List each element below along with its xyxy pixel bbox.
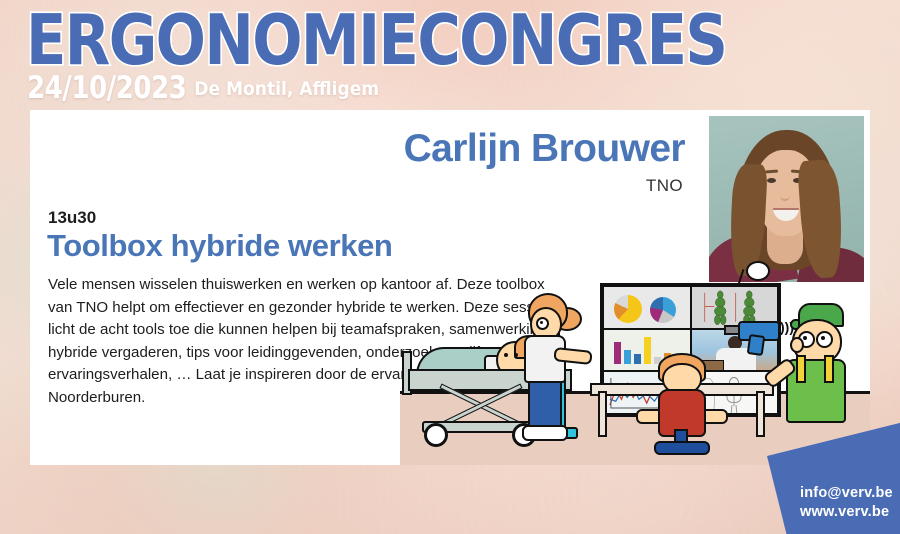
nurse-shoes — [522, 425, 568, 441]
poster-header: ERGONOMIECONGRES 24/10/2023De Montil, Af… — [0, 0, 900, 112]
technician-eye-right — [816, 331, 833, 348]
session-time: 13u30 — [48, 208, 96, 228]
event-venue: De Montil, Affligem — [194, 78, 379, 100]
congress-title: ERGONOMIECONGRES — [26, 6, 726, 75]
lamp-head-icon — [746, 261, 770, 281]
conference-poster: ERGONOMIECONGRES 24/10/2023De Montil, Af… — [0, 0, 900, 534]
nurse-eye — [536, 317, 549, 330]
worker-chair-base — [654, 441, 710, 455]
bar-1 — [614, 342, 621, 364]
technician-figure: ))) — [776, 303, 862, 453]
bar-2 — [624, 350, 631, 364]
event-date: 24/10/2023 — [27, 69, 186, 106]
pie-chart-2 — [650, 297, 676, 323]
speaker-photo — [709, 116, 864, 282]
nurse-figure — [508, 293, 580, 445]
overall-strap-right — [824, 355, 834, 383]
bed-scissor-lift — [436, 387, 516, 421]
speaker-name: Carlijn Brouwer — [404, 127, 685, 171]
speaker-organization: TNO — [646, 176, 683, 196]
photo-eye-left — [767, 178, 776, 183]
content-panel: Carlijn Brouwer TNO 13u30 Toolbox hybrid… — [30, 110, 870, 465]
screen-pie-charts — [603, 286, 691, 329]
desk-leg-left — [598, 391, 607, 437]
header-date-venue: 24/10/2023De Montil, Affligem — [27, 70, 379, 104]
drill-grip — [747, 334, 766, 356]
contact-info: info@verv.be www.verv.be — [800, 484, 893, 522]
pie-chart-1 — [614, 295, 642, 323]
overall-strap-left — [796, 355, 806, 383]
power-drill-icon — [732, 321, 776, 343]
desk-leg-right — [756, 391, 765, 437]
contact-website[interactable]: www.verv.be — [800, 503, 893, 522]
poster-footer: VerV Een organisatie van VerV - Beroepsv… — [0, 465, 900, 534]
bed-wheel-left — [424, 423, 448, 447]
seated-worker — [640, 353, 722, 453]
session-title: Toolbox hybride werken — [47, 228, 392, 264]
technician-nose — [790, 337, 804, 353]
contact-email[interactable]: info@verv.be — [800, 484, 893, 503]
photo-nose — [780, 190, 790, 201]
workplace-illustration: ))) — [400, 265, 870, 465]
